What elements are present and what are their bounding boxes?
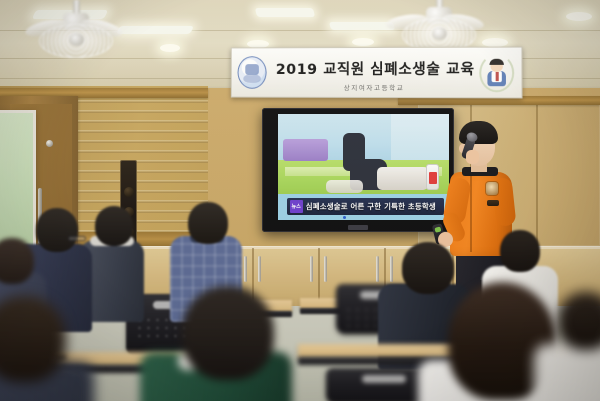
door-knob[interactable] [46, 140, 53, 147]
caption-tag: 뉴스 [290, 200, 303, 213]
video-bottle [426, 164, 439, 190]
presenter-name-tape [487, 200, 499, 206]
fire-service-shoulder-patch-icon [486, 182, 498, 195]
green-chalkboard [0, 110, 36, 260]
cabinet-handle[interactable] [376, 256, 379, 282]
recessed-downlight [566, 12, 592, 21]
banner-subtitle: 상지여자고등학교 [232, 82, 522, 93]
photo-scene: 2019 교직원 심폐소생술 교육 상지여자고등학교 뉴스 심폐소생술로 어른 … [0, 0, 600, 401]
led-panel-light [116, 26, 194, 34]
presenter-hair [459, 121, 498, 144]
presenter-hand-right [466, 150, 479, 164]
video-cpr-manikin-legs [326, 180, 364, 193]
tv-brand-logo [348, 225, 368, 230]
ceiling-fan-left [39, 0, 113, 60]
event-banner: 2019 교직원 심폐소생술 교육 상지여자고등학교 [231, 47, 523, 99]
wall-mounted-television: 뉴스 심폐소생술로 어른 구한 기특한 초등학생 [262, 108, 454, 232]
cabinet-handle[interactable] [244, 256, 247, 282]
cabinet-handle[interactable] [390, 256, 393, 282]
caption-text: 심폐소생술로 어른 구한 기특한 초등학생 [306, 201, 436, 212]
video-cpr-manikin [377, 167, 428, 190]
video-sofa [283, 139, 327, 160]
recessed-downlight [352, 38, 374, 46]
panel-seam [536, 96, 538, 246]
video-caption-bar: 뉴스 심폐소생술로 어른 구한 기특한 초등학생 [287, 198, 444, 215]
banner-title: 2019 교직원 심폐소생술 교육 [276, 63, 475, 78]
cabinet-handle[interactable] [310, 256, 313, 282]
tv-screen: 뉴스 심폐소생술로 어른 구한 기특한 초등학생 [278, 114, 449, 220]
cabinet-handle[interactable] [324, 256, 327, 282]
tv-power-led [343, 216, 346, 219]
recessed-downlight [160, 44, 180, 52]
eyeglasses-icon [68, 236, 86, 241]
cabinet-handle[interactable] [258, 256, 261, 282]
student-mascot-icon [479, 54, 514, 93]
led-panel-light [255, 8, 315, 17]
